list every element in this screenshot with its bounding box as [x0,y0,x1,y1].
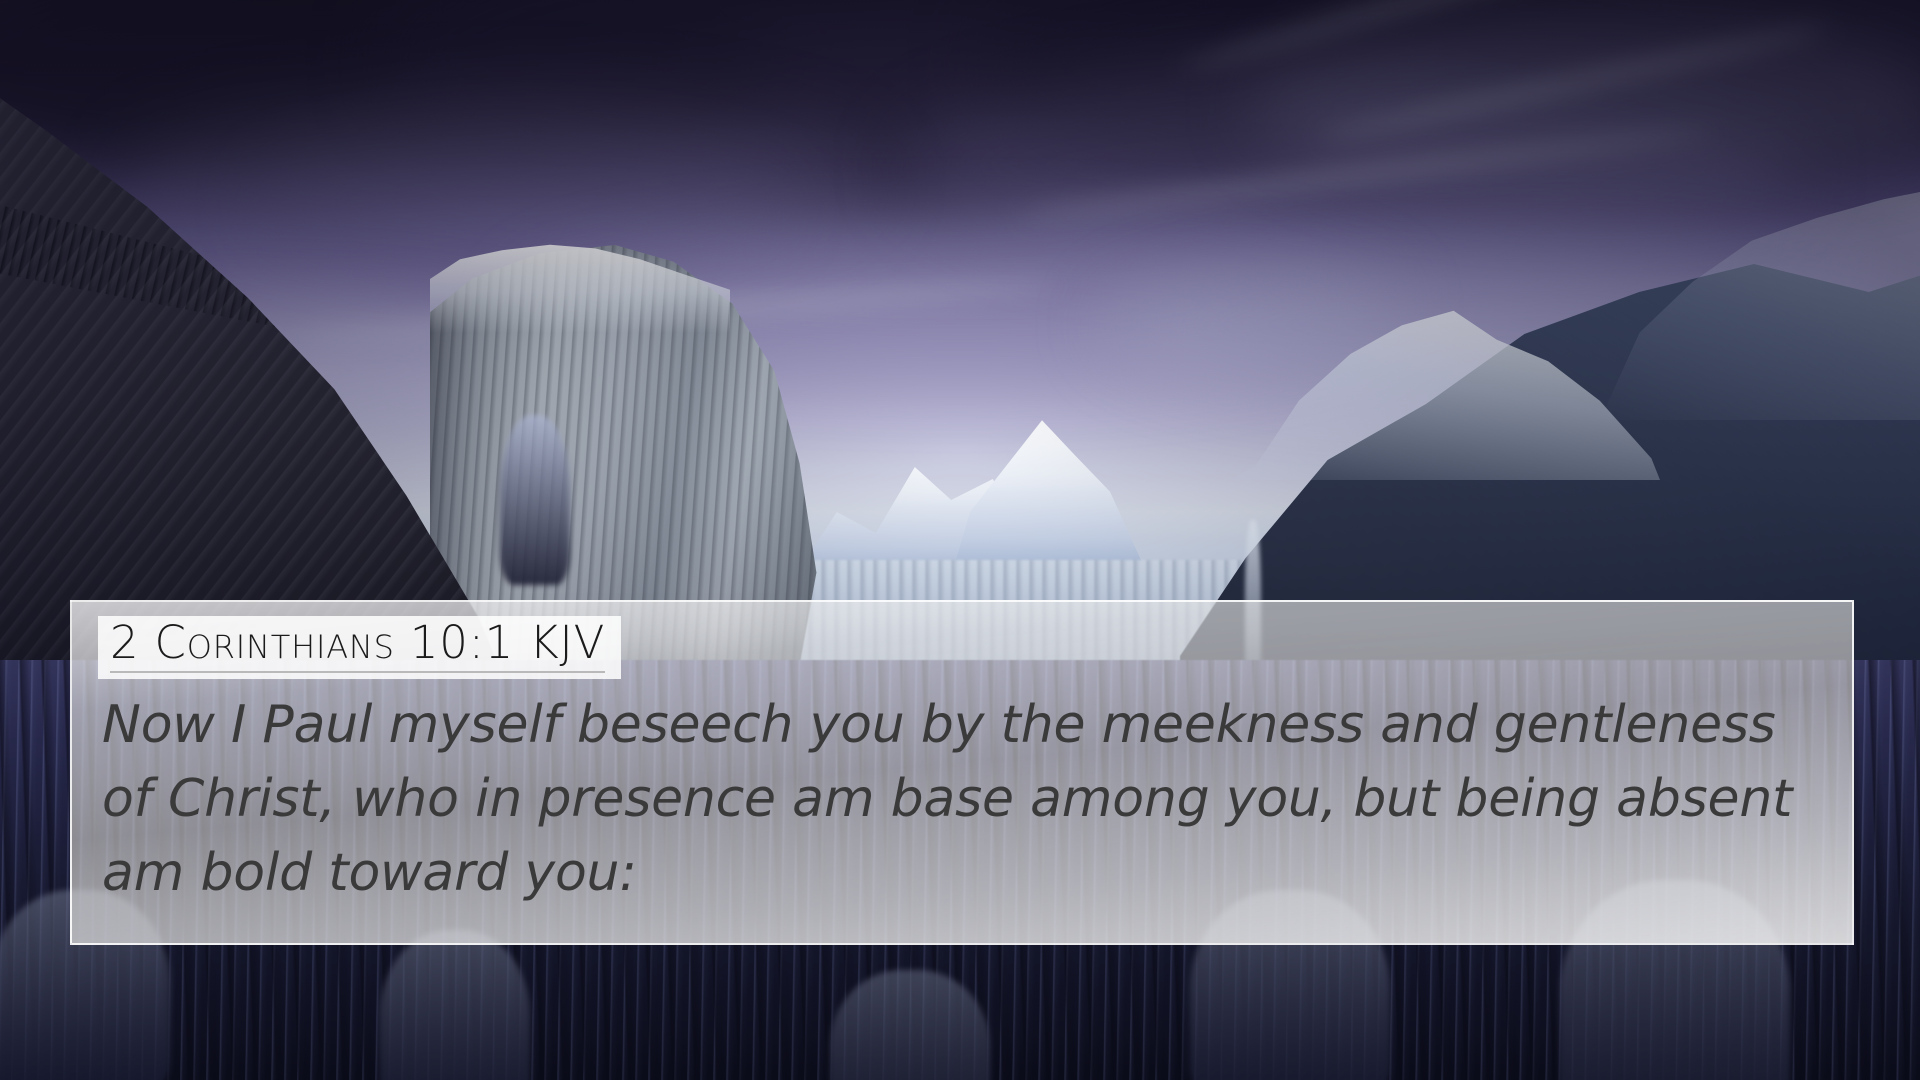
verse-reference: 2 Corinthians 10:1 KJV [110,618,605,673]
verse-image-canvas: 2 Corinthians 10:1 KJV Now I Paul myself… [0,0,1920,1080]
snow-covered-sapling [500,415,570,585]
verse-reference-background: 2 Corinthians 10:1 KJV [98,616,621,679]
verse-body-text: Now I Paul myself beseech you by the mee… [102,689,1802,910]
verse-overlay-panel: 2 Corinthians 10:1 KJV Now I Paul myself… [70,600,1854,945]
snow-covered-tree [380,930,530,1080]
verse-content: 2 Corinthians 10:1 KJV Now I Paul myself… [98,616,1832,911]
